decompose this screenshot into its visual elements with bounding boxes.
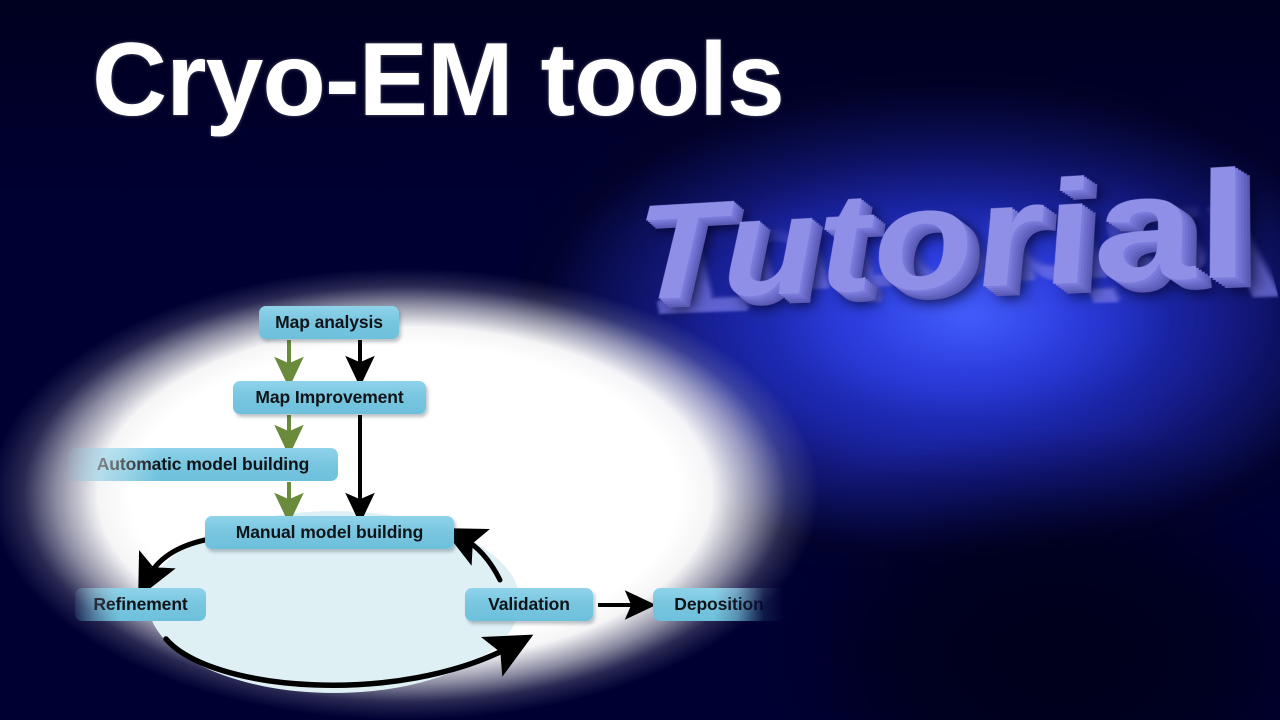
node-label-manual-model-building: Manual model building — [236, 522, 423, 543]
node-label-map-improvement: Map Improvement — [255, 387, 403, 408]
slide-canvas: Tutorial Tutorial Cryo-EM tools — [0, 0, 1280, 720]
node-map-improvement[interactable]: Map Improvement — [233, 381, 426, 414]
page-title: Cryo-EM tools — [92, 26, 784, 135]
diagram-edges — [0, 268, 830, 720]
node-label-map-analysis: Map analysis — [275, 312, 383, 333]
node-map-analysis[interactable]: Map analysis — [259, 306, 399, 339]
node-validation[interactable]: Validation — [465, 588, 593, 621]
node-label-automatic-model-building: Automatic model building — [97, 454, 309, 475]
node-manual-model-building[interactable]: Manual model building — [205, 516, 454, 549]
workflow-diagram: Map analysis Map Improvement Automatic m… — [0, 268, 830, 720]
node-label-deposition: Deposition — [674, 594, 763, 615]
edge-manual-model-building-to-refinement — [148, 540, 205, 578]
edge-validation-to-manual-model-building — [462, 538, 500, 580]
node-refinement[interactable]: Refinement — [75, 588, 206, 621]
node-automatic-model-building[interactable]: Automatic model building — [68, 448, 338, 481]
node-label-validation: Validation — [488, 594, 570, 615]
node-label-refinement: Refinement — [93, 594, 187, 615]
edge-refinement-to-validation — [166, 639, 512, 685]
node-deposition[interactable]: Deposition — [653, 588, 785, 621]
